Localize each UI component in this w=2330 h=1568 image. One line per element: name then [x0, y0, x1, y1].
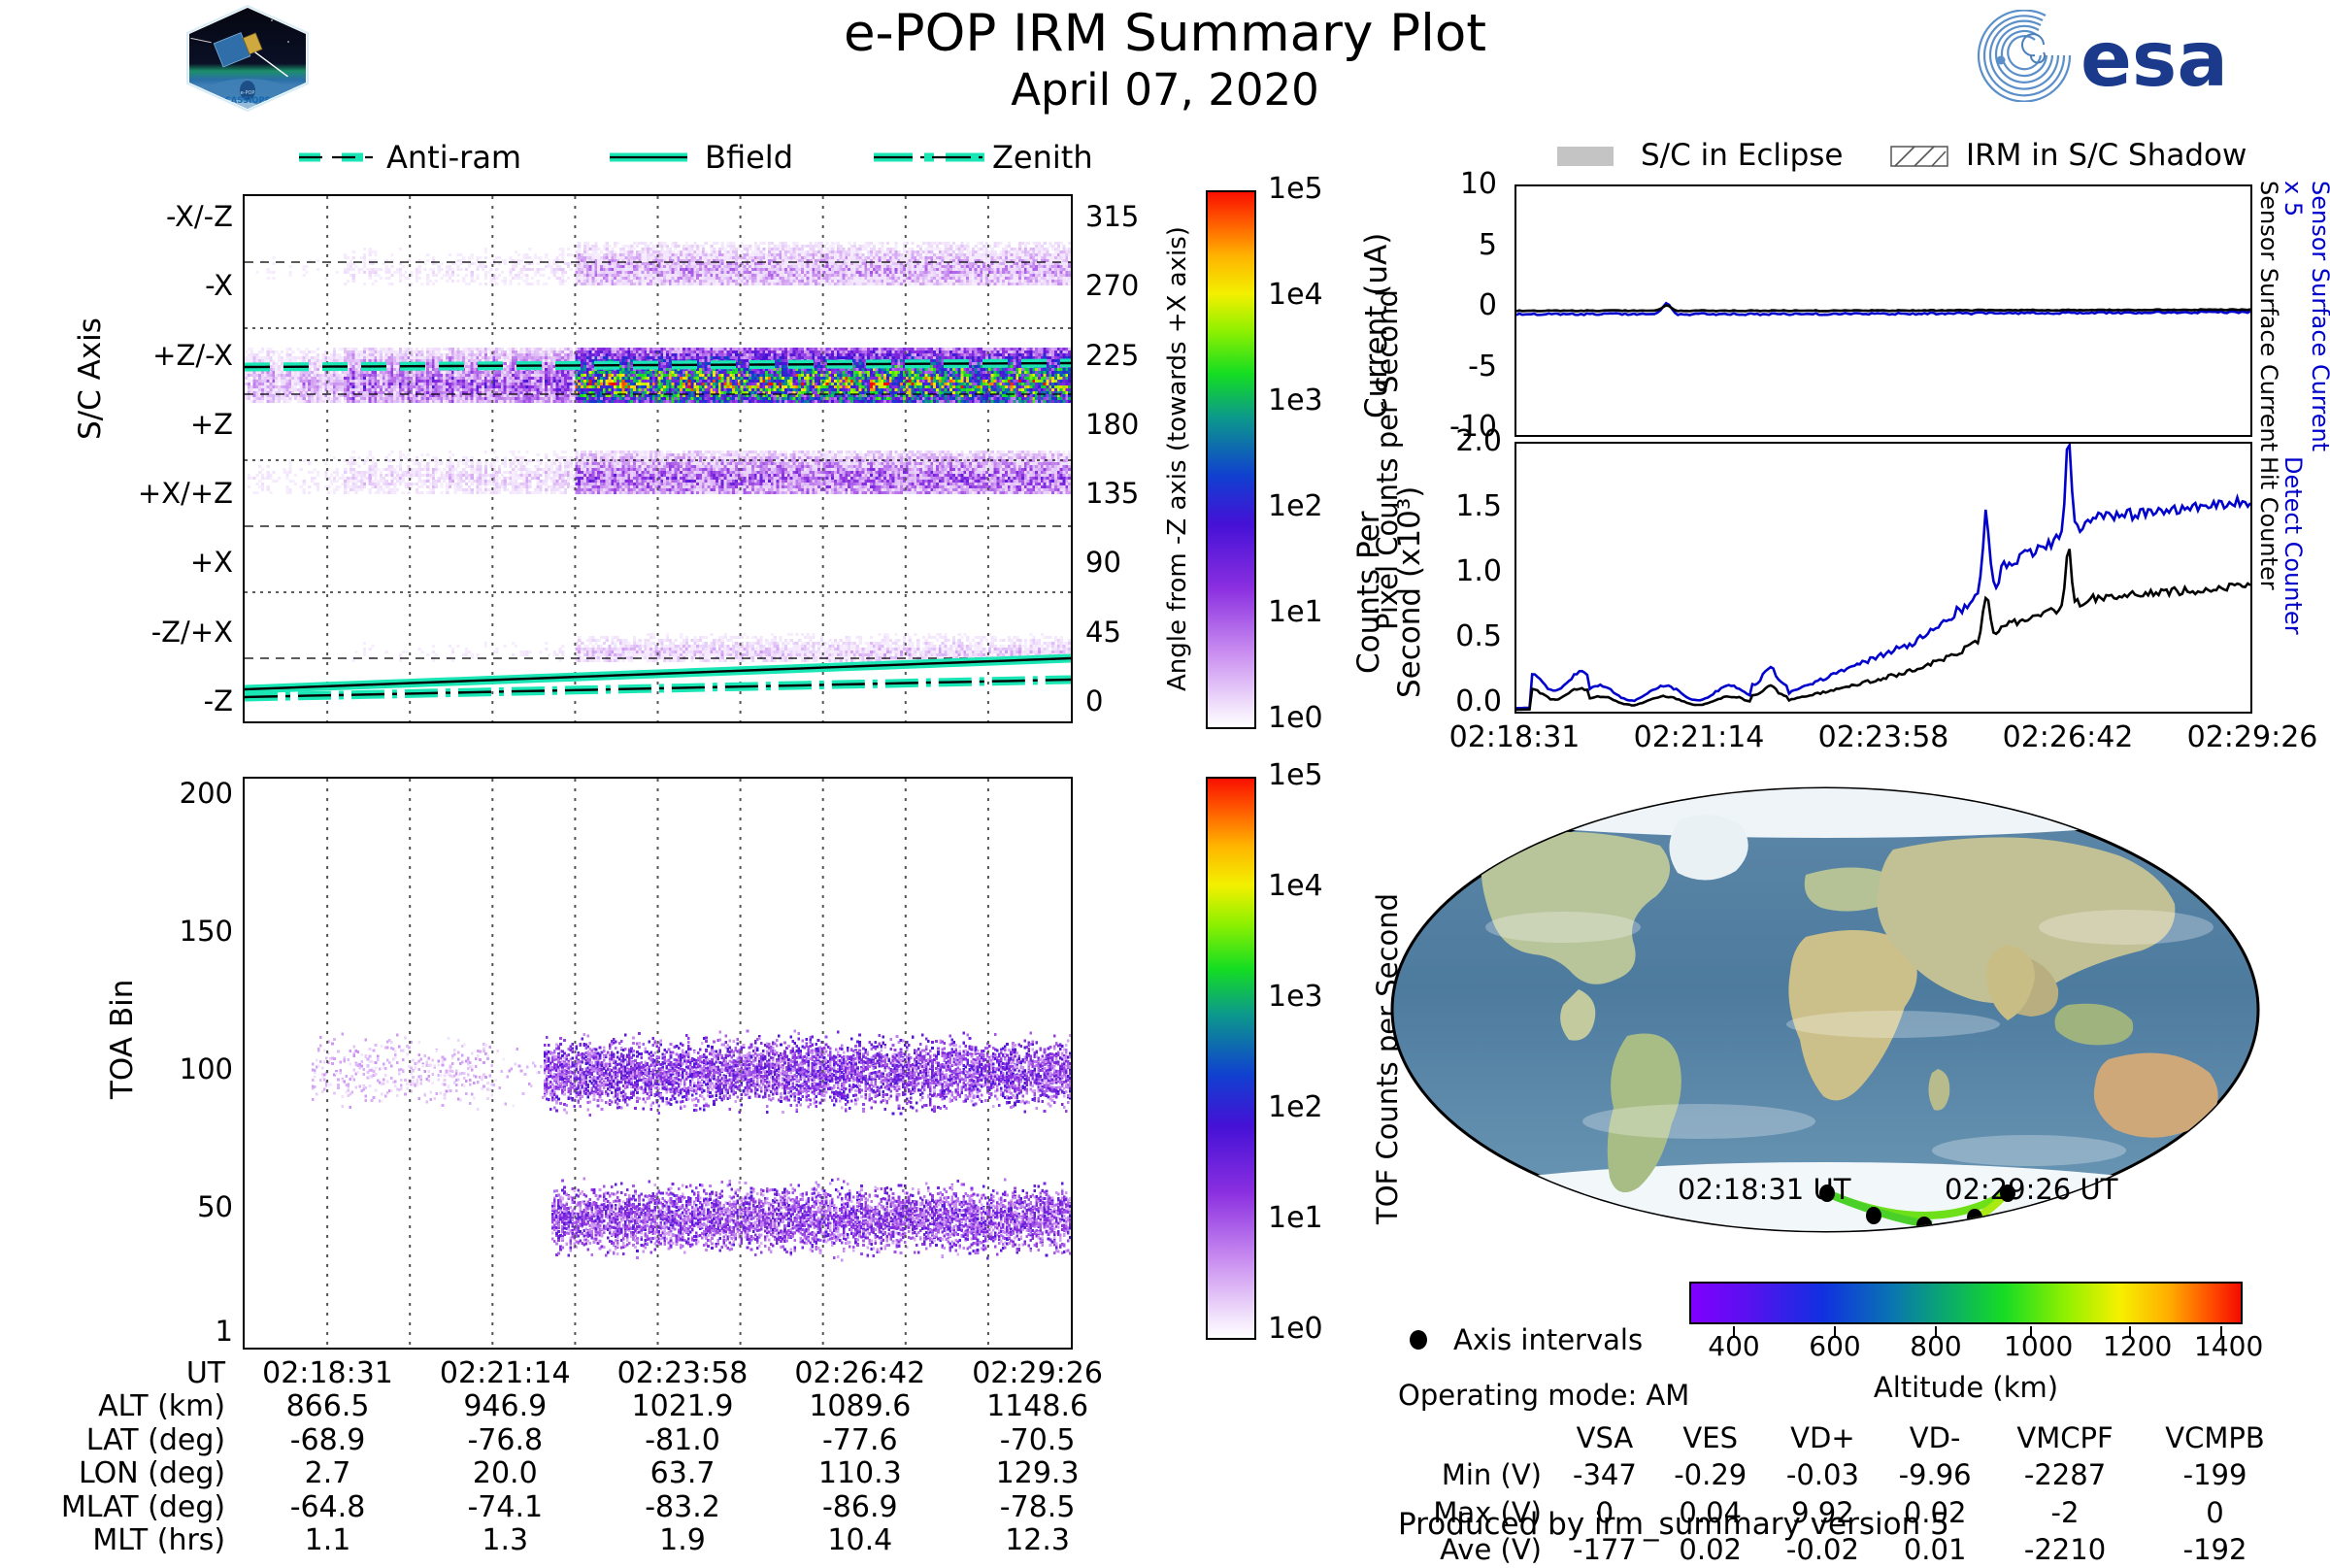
toa-ytick-0: 200 [180, 777, 233, 810]
ephemeris-row: MLT (hrs)1.11.31.910.412.3 [39, 1524, 1126, 1557]
page-title: e-POP IRM Summary Plot [680, 4, 1650, 63]
angle-ytick-right-4: 135 [1085, 477, 1139, 510]
ephemeris-cell: -86.9 [771, 1491, 949, 1524]
angle-spectrogram-plot [243, 194, 1073, 723]
ephemeris-cell: -74.1 [416, 1491, 594, 1524]
angle-ytick-left-6: -Z/+X [151, 616, 233, 649]
counts-ylabel-line1: Counts Per [1351, 456, 1386, 728]
current-ytick-labels: 1050-5-10 [1398, 184, 1505, 437]
current-ytick-1: 5 [1479, 228, 1497, 262]
ephemeris-cell: 2.7 [239, 1457, 416, 1490]
ephemeris-cell: 02:21:14 [416, 1357, 594, 1390]
counts-ytick-labels: 2.01.51.00.50.0 [1413, 442, 1510, 714]
ephemeris-cell: 02:18:31 [239, 1357, 416, 1390]
counts-xtick-labels: 02:18:3102:21:1402:23:5802:26:4202:29:26 [1514, 718, 2252, 757]
legend-sc-eclipse-label: S/C in Eclipse [1641, 138, 1844, 173]
angle-ytick-left-7: -Z [204, 684, 233, 717]
voltage-cell: -9.96 [1879, 1456, 1991, 1493]
page-subtitle-date: April 07, 2020 [680, 64, 1650, 116]
counts-xtick-1: 02:21:14 [1621, 720, 1777, 754]
angle-panel-ylabel: S/C Axis [73, 291, 112, 466]
ephemeris-cell: 1.1 [239, 1524, 416, 1557]
ephemeris-cell: -78.5 [949, 1491, 1126, 1524]
voltage-cell: -192 [2139, 1531, 2291, 1568]
ephemeris-cell: -77.6 [771, 1424, 949, 1457]
angle-ytick-labels-right: 31527022518013590450 [1085, 194, 1163, 723]
pixel-cb-tick-3: 1e2 [1268, 489, 1323, 523]
angle-ytick-right-0: 315 [1085, 200, 1139, 233]
angle-ytick-left-5: +X [190, 546, 233, 579]
legend-irm-shadow-label: IRM in S/C Shadow [1966, 138, 2247, 173]
ephemeris-cell: -83.2 [594, 1491, 772, 1524]
ephemeris-cell: 866.5 [239, 1390, 416, 1423]
mission-patch-logo: e-POP CASSIOPE [180, 5, 316, 112]
voltage-column-header: VES [1654, 1419, 1767, 1456]
ephemeris-cell: -64.8 [239, 1491, 416, 1524]
angle-ytick-left-4: +X/+Z [138, 477, 233, 510]
toa-ytick-1: 150 [180, 915, 233, 948]
current-panel-ylabel: Current (uA) [1359, 194, 1394, 456]
pixel-cb-tick-2: 1e3 [1268, 384, 1323, 417]
counts-ytick-3: 0.5 [1455, 619, 1502, 653]
tof-cb-tick-5: 1e0 [1268, 1312, 1323, 1346]
ephemeris-cell: 20.0 [416, 1457, 594, 1490]
ephemeris-cell: 02:26:42 [771, 1357, 949, 1390]
ephemeris-row-label: UT [39, 1357, 239, 1390]
counts-xtick-2: 02:23:58 [1806, 720, 1961, 754]
pixel-counts-colorbar [1206, 190, 1256, 729]
counts-xtick-3: 02:26:42 [1990, 720, 2146, 754]
ephemeris-cell: 02:23:58 [594, 1357, 772, 1390]
ephemeris-cell: -81.0 [594, 1424, 772, 1457]
tof-cb-tick-4: 1e1 [1268, 1201, 1323, 1235]
toa-ytick-3: 50 [197, 1190, 233, 1223]
ephemeris-cell: 1148.6 [949, 1390, 1126, 1423]
altitude-colorbar [1689, 1282, 2243, 1324]
toa-ytick-labels: 200150100501 [136, 777, 233, 1350]
angle-panel-y2label: Angle from -Z axis (towards +X axis) [1163, 194, 1196, 723]
angle-ytick-right-1: 270 [1085, 269, 1139, 302]
ephemeris-cell: -68.9 [239, 1424, 416, 1457]
angle-ytick-left-1: -X [205, 269, 233, 302]
ephemeris-cell: 02:29:26 [949, 1357, 1126, 1390]
voltage-cell: -2287 [1991, 1456, 2139, 1493]
counts-timeseries-plot [1514, 442, 2252, 714]
counts-xtick-4: 02:29:26 [2175, 720, 2330, 754]
ephemeris-row-label: MLAT (deg) [39, 1491, 239, 1524]
voltage-column-header: VSA [1555, 1419, 1654, 1456]
ephemeris-row-label: ALT (km) [39, 1390, 239, 1423]
ephemeris-cell: 1021.9 [594, 1390, 772, 1423]
angle-ytick-right-7: 0 [1085, 684, 1103, 717]
ephemeris-row-label: LON (deg) [39, 1457, 239, 1490]
voltage-column-header: VCMPB [2139, 1419, 2291, 1456]
current-timeseries-plot [1514, 184, 2252, 437]
voltage-cell: -0.29 [1654, 1456, 1767, 1493]
counts-ytick-1: 1.5 [1455, 489, 1502, 523]
toa-bin-spectrogram-plot [243, 777, 1073, 1350]
esa-wordmark: esa [2080, 17, 2228, 102]
counts-right-label-blue: Detect Counter [2280, 456, 2307, 699]
legend-item-bfield-label: Bfield [705, 139, 793, 176]
ephemeris-cell: 129.3 [949, 1457, 1126, 1490]
voltage-column-header: VD- [1879, 1419, 1991, 1456]
angle-ytick-right-3: 180 [1085, 408, 1139, 441]
ephemeris-cell: 10.4 [771, 1524, 949, 1557]
voltage-row-label: Min (V) [1379, 1456, 1555, 1493]
voltage-cell: 0 [2139, 1494, 2291, 1531]
ephemeris-row: MLAT (deg)-64.8-74.1-83.2-86.9-78.5 [39, 1491, 1126, 1524]
counts-right-label-black: Hit Counter [2255, 456, 2282, 699]
angle-ytick-left-3: +Z [190, 408, 233, 441]
current-ytick-3: -5 [1468, 350, 1497, 384]
voltage-cell: -2210 [1991, 1531, 2139, 1568]
tof-cb-tick-0: 1e5 [1268, 758, 1323, 792]
angle-ytick-right-5: 90 [1085, 546, 1121, 579]
pixel-cb-tick-0: 1e5 [1268, 172, 1323, 206]
ephemeris-row: UT02:18:3102:21:1402:23:5802:26:4202:29:… [39, 1357, 1126, 1390]
current-right-label-black: Sensor Surface Current [2255, 181, 2282, 452]
esa-logo: esa [1976, 10, 2286, 102]
voltage-row: Min (V)-347-0.29-0.03-9.96-2287-199 [1379, 1456, 2291, 1493]
ephemeris-row: LON (deg)2.720.063.7110.3129.3 [39, 1457, 1126, 1490]
voltage-header-row: VSAVESVD+VD-VMCPFVCMPB [1379, 1419, 2291, 1456]
ephemeris-cell: -70.5 [949, 1424, 1126, 1457]
ephemeris-row-label: MLT (hrs) [39, 1524, 239, 1557]
voltage-table: VSAVESVD+VD-VMCPFVCMPBMin (V)-347-0.29-0… [1379, 1419, 2291, 1568]
angle-ytick-left-2: +Z/-X [152, 339, 233, 372]
ephemeris-row: LAT (deg)-68.9-76.8-81.0-77.6-70.5 [39, 1424, 1126, 1457]
ephemeris-cell: 946.9 [416, 1390, 594, 1423]
ephemeris-cell: 1089.6 [771, 1390, 949, 1423]
legend-item-zenith-label: Zenith [992, 139, 1093, 176]
ephemeris-cell: 1.9 [594, 1524, 772, 1557]
angle-ytick-right-6: 45 [1085, 616, 1121, 649]
voltage-cell: -2 [1991, 1494, 2139, 1531]
ephemeris-cell: 12.3 [949, 1524, 1126, 1557]
ephemeris-cell: -76.8 [416, 1424, 594, 1457]
current-ytick-0: 10 [1460, 167, 1497, 201]
map-end-time-label: 02:29:26 UT [1945, 1173, 2117, 1206]
world-map [1388, 782, 2262, 1238]
toa-ytick-2: 100 [180, 1052, 233, 1085]
axis-intervals-legend-label: Axis intervals [1453, 1323, 1643, 1356]
voltage-column-header: VMCPF [1991, 1419, 2139, 1456]
ephemeris-cell: 110.3 [771, 1457, 949, 1490]
ephemeris-cell: 63.7 [594, 1457, 772, 1490]
ephemeris-row: ALT (km)866.5946.91021.91089.61148.6 [39, 1390, 1126, 1423]
current-ytick-2: 0 [1479, 288, 1497, 322]
tof-counts-colorbar [1206, 777, 1256, 1340]
ephemeris-table-element: UT02:18:3102:21:1402:23:5802:26:4202:29:… [39, 1357, 1126, 1557]
counts-xtick-0: 02:18:31 [1437, 720, 1592, 754]
toa-ytick-4: 1 [216, 1315, 233, 1348]
tof-counts-colorbar-ticks: 1e51e41e31e21e11e0 [1262, 777, 1369, 1340]
ephemeris-row-label: LAT (deg) [39, 1424, 239, 1457]
tof-cb-tick-3: 1e2 [1268, 1090, 1323, 1124]
axis-intervals-marker-icon [1408, 1328, 1429, 1351]
angle-ytick-left-0: -X/-Z [166, 200, 233, 233]
voltage-table-element: VSAVESVD+VD-VMCPFVCMPBMin (V)-347-0.29-0… [1379, 1419, 2291, 1568]
tof-cb-tick-1: 1e4 [1268, 869, 1323, 903]
altitude-colorbar-label: Altitude (km) [1689, 1371, 2243, 1404]
legend-item-anti-ram-label: Anti-ram [386, 139, 521, 176]
footer-produced-by: Produced by irm_summary version 5 [1398, 1507, 1949, 1542]
voltage-cell: -199 [2139, 1456, 2291, 1493]
counts-ytick-0: 2.0 [1455, 424, 1502, 458]
altitude-colorbar-ticks: 400600800100012001400 [1689, 1326, 2243, 1369]
pixel-cb-tick-5: 1e0 [1268, 701, 1323, 735]
angle-ytick-right-2: 225 [1085, 339, 1139, 372]
current-right-label-blue: Sensor Surface Current x 5 [2280, 181, 2330, 452]
ephemeris-cell: 1.3 [416, 1524, 594, 1557]
counts-ytick-2: 1.0 [1455, 554, 1502, 588]
pixel-cb-tick-1: 1e4 [1268, 278, 1323, 312]
map-start-time-label: 02:18:31 UT [1678, 1173, 1850, 1206]
voltage-cell: -347 [1555, 1456, 1654, 1493]
voltage-cell: -0.03 [1767, 1456, 1880, 1493]
ephemeris-table: UT02:18:3102:21:1402:23:5802:26:4202:29:… [39, 1357, 1126, 1557]
counts-ytick-4: 0.0 [1455, 684, 1502, 718]
operating-mode-label: Operating mode: AM [1398, 1379, 1689, 1412]
pixel-cb-tick-4: 1e1 [1268, 595, 1323, 629]
angle-ytick-labels-left: -X/-Z-X+Z/-X+Z+X/+Z+X-Z/+X-Z [136, 194, 233, 723]
tof-cb-tick-2: 1e3 [1268, 980, 1323, 1014]
voltage-column-header: VD+ [1767, 1419, 1880, 1456]
